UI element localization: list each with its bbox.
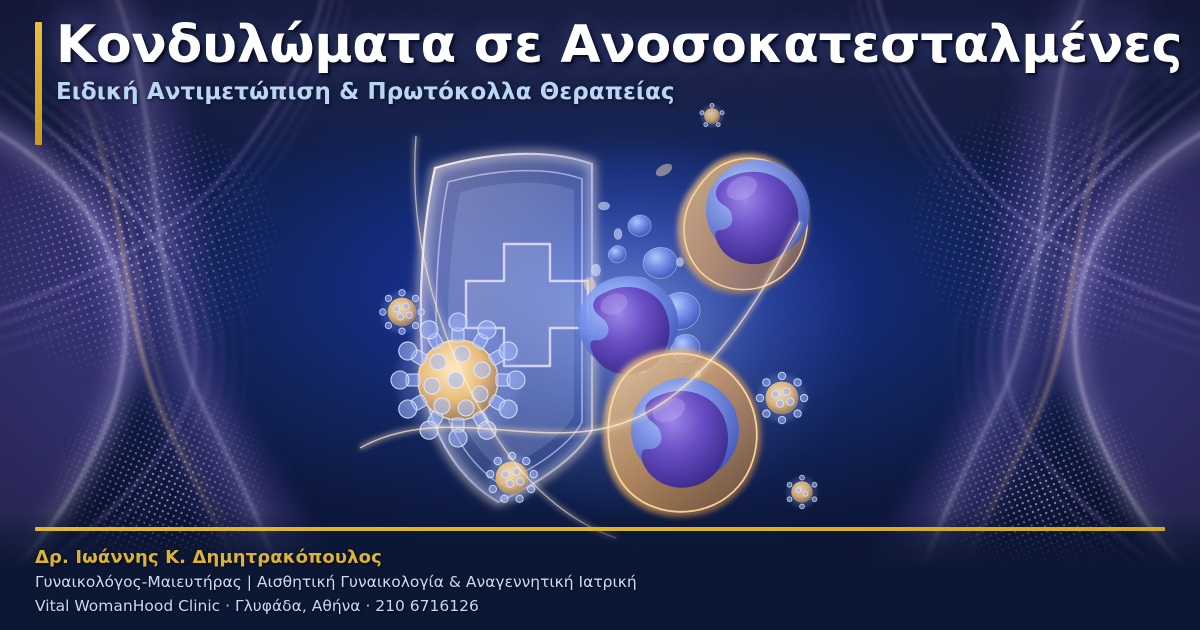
doctor-name: Δρ. Ιωάννης Κ. Δημητρακόπουλος [35,546,935,569]
doctor-specialty: Γυναικολόγος-Μαιευτήρας | Αισθητική Γυνα… [35,572,935,592]
title-block: Κονδυλώματα σε Ανοσοκατεσταλμένες Ειδική… [56,18,1166,107]
banner-root: Κονδυλώματα σε Ανοσοκατεσταλμένες Ειδική… [0,0,1200,630]
immune-defense-illustration [380,130,860,520]
page-subtitle: Ειδική Αντιμετώπιση & Πρωτόκολλα Θεραπεί… [56,79,1166,107]
virus-particle-tiny-right [786,475,817,509]
footer-divider [35,527,1165,531]
clinic-contact: Vital WomanHood Clinic · Γλυφάδα, Αθήνα … [35,596,935,616]
artwork-svg [380,130,860,520]
title-accent-bar [35,22,42,145]
virus-particle-small-upper-left [380,290,425,335]
virus-particle-small-right [756,372,808,424]
footer-block: Δρ. Ιωάννης Κ. Δημητρακόπουλος Γυναικολό… [35,546,935,616]
page-title: Κονδυλώματα σε Ανοσοκατεσταλμένες [56,18,1166,73]
